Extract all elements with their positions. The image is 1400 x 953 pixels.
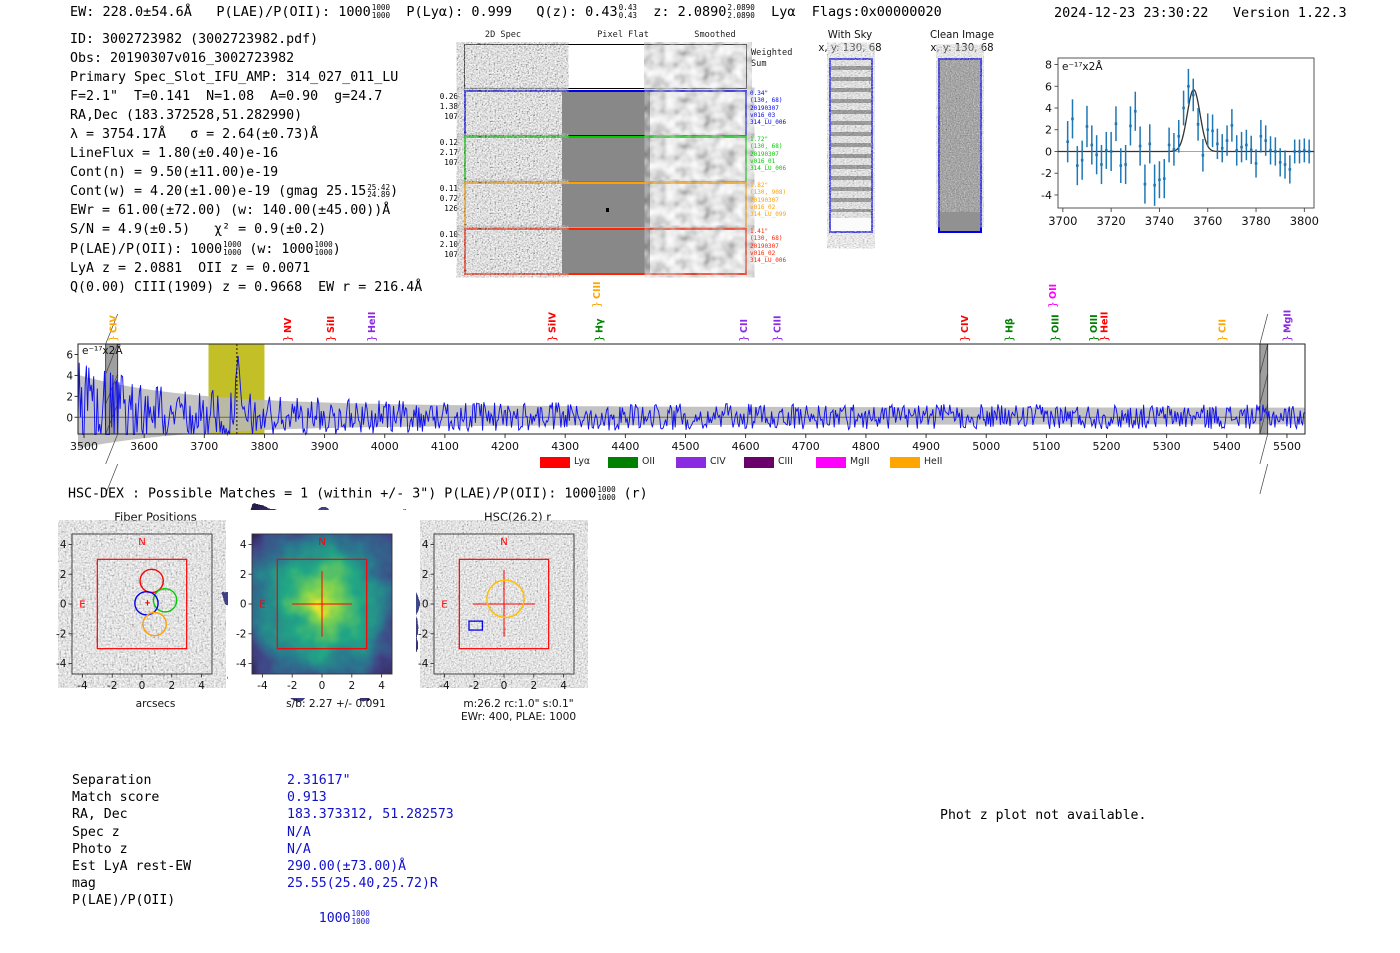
cutout-2-title: HSC(26.2) r <box>430 510 605 524</box>
legend-swatch-0 <box>540 457 570 468</box>
svg-text:4600: 4600 <box>732 440 760 453</box>
svg-text:4500: 4500 <box>671 440 699 453</box>
cutout-2-caption-line1: m:26.2 rc:1.0" s:0.1" <box>463 698 573 710</box>
table-key-0: Separation <box>72 772 151 789</box>
svg-text:N: N <box>500 537 507 548</box>
svg-text:}: } <box>1048 335 1061 342</box>
svg-text:MgII: MgII <box>1283 310 1294 333</box>
legend-swatch-4 <box>816 457 846 468</box>
svg-text:}: } <box>546 335 559 342</box>
svg-text:-2: -2 <box>107 680 117 692</box>
spec2d-row-0-right-labels: 0.34" (130, 68) 20190307 v016_03 314_LU_… <box>750 90 786 126</box>
legend-label-1: OII <box>642 456 655 467</box>
svg-text:}: } <box>958 335 971 342</box>
table-value-4: N/A <box>287 841 311 858</box>
info-params: F=2.1" T=0.141 N=1.08 A=0.90 g=24.7 <box>70 89 382 104</box>
table-value-7-fraction: 10001000 <box>352 910 370 925</box>
svg-text:CIII: CIII <box>592 281 603 299</box>
svg-text:-4: -4 <box>1041 189 1052 202</box>
info-plae-fraction-2: 10001000 <box>314 241 332 256</box>
line-zoom-plot: -4-202468370037203740376037803800e⁻¹⁷x2Å <box>1032 50 1322 250</box>
svg-text:}: } <box>590 301 603 308</box>
photz-note: Phot z plot not available. <box>940 808 1146 823</box>
header-datetime: 2024-12-23 23:30:22 <box>1054 5 1208 21</box>
svg-text:4400: 4400 <box>611 440 639 453</box>
spec2d-row-2-left-labels: 0.11 0.72 126 <box>420 184 458 214</box>
table-value-6: 25.55(25.40,25.72)R <box>287 875 438 892</box>
legend-swatch-3 <box>744 457 774 468</box>
svg-text:3900: 3900 <box>311 440 339 453</box>
table-key-3: Spec z <box>72 824 120 841</box>
svg-text:4700: 4700 <box>792 440 820 453</box>
cutout-0-caption: arcsecs <box>68 698 243 711</box>
svg-text:4: 4 <box>66 370 73 382</box>
header-qz-fraction: 0.430.43 <box>619 4 637 19</box>
info-gmag-fraction: 25.4224.89 <box>367 184 390 199</box>
header-summary-line: EW: 228.0±54.6Å P(LAE)/P(OII): 100010001… <box>70 4 942 20</box>
svg-text:0: 0 <box>422 599 429 611</box>
with-sky-title: With Sky x, y: 130, 68 <box>800 30 900 55</box>
clean-image-pixels <box>940 60 980 231</box>
svg-text:3700: 3700 <box>1048 214 1077 228</box>
legend-label-4: MgII <box>850 456 870 467</box>
legend-swatch-1 <box>608 457 638 468</box>
svg-text:6: 6 <box>66 349 73 361</box>
svg-text:-2: -2 <box>469 680 479 692</box>
svg-text:}: } <box>771 335 784 342</box>
info-plae-pre: P(LAE)/P(OII): 1000 <box>70 242 222 257</box>
line-marker-CII: }CII <box>737 319 750 342</box>
spec2d-row-2-right-labels: 1.82" (130, 908) 20190307 v016_02 314_LU… <box>750 182 786 218</box>
line-marker-OII: }OII <box>1046 284 1059 308</box>
svg-text:}: } <box>1281 335 1294 342</box>
spec2d-row-3 <box>464 228 747 275</box>
svg-text:CII: CII <box>739 319 750 333</box>
spec2d-column-header-2: Smoothed <box>670 30 760 40</box>
info-plae-post: ) <box>333 242 341 257</box>
svg-text:E: E <box>79 600 85 611</box>
info-plae-mid: (w: 1000 <box>241 242 313 257</box>
svg-text:0: 0 <box>501 680 508 692</box>
svg-text:-4: -4 <box>257 680 268 692</box>
info-lineflux: LineFlux = 1.80(±0.40)e-16 <box>70 146 278 161</box>
svg-text:3740: 3740 <box>1145 214 1174 228</box>
line-marker-CIII: }CIII <box>771 315 784 342</box>
svg-text:4: 4 <box>422 539 429 551</box>
table-value-2: 183.373312, 51.282573 <box>287 806 454 823</box>
svg-text:2: 2 <box>66 391 73 403</box>
legend-swatch-2 <box>676 457 706 468</box>
legend-label-0: Lyα <box>574 456 590 467</box>
header-lya: Lyα <box>771 4 795 20</box>
svg-text:Hγ: Hγ <box>594 318 605 333</box>
svg-text:CII: CII <box>1218 319 1229 333</box>
spec2d-column-header-1: Pixel Flat <box>568 30 678 40</box>
svg-text:4900: 4900 <box>912 440 940 453</box>
svg-text:N: N <box>138 537 145 548</box>
svg-text:-4: -4 <box>56 658 67 670</box>
svg-text:0: 0 <box>319 680 326 692</box>
table-key-1: Match score <box>72 789 159 806</box>
line-marker-HeII: }HeII <box>365 312 378 342</box>
svg-text:6: 6 <box>1045 80 1052 93</box>
svg-text:-2: -2 <box>56 628 66 640</box>
header-z-fraction: 2.08902.0890 <box>727 4 754 19</box>
detection-info-block: ID: 3002723982 (3002723982.pdf) Obs: 201… <box>70 30 422 297</box>
svg-text:HeII: HeII <box>1100 312 1111 333</box>
header-ew: EW: 228.0±54.6Å <box>70 4 192 20</box>
svg-text:3760: 3760 <box>1193 214 1222 228</box>
svg-text:-2: -2 <box>418 628 428 640</box>
svg-text:3700: 3700 <box>190 440 218 453</box>
line-marker-HeII: }HeII <box>1098 312 1111 342</box>
legend-swatch-5 <box>890 457 920 468</box>
header-z: z: 2.0890 <box>653 4 726 20</box>
header-plae-fraction: 10001000 <box>372 4 390 19</box>
legend-label-2: CIV <box>710 456 726 467</box>
line-marker-SiIV: }SiIV <box>546 311 559 342</box>
svg-text:2: 2 <box>530 680 537 692</box>
line-marker-Hγ: }Hγ <box>592 318 605 342</box>
line-marker-OIII: }OIII <box>1048 314 1061 342</box>
svg-text:OIII: OIII <box>1089 314 1100 333</box>
svg-text:-2: -2 <box>1041 167 1052 180</box>
with-sky-image <box>829 58 873 233</box>
info-cont-n: Cont(n) = 9.50(±11.00)e-19 <box>70 165 278 180</box>
svg-text:3500: 3500 <box>70 440 98 453</box>
svg-text:}: } <box>365 335 378 342</box>
cutout-2-caption-line2: EWr: 400, PLAE: 1000 <box>461 711 576 723</box>
hsc-dex-plae-fraction: 10001000 <box>597 486 615 501</box>
svg-text:0: 0 <box>66 412 73 424</box>
header-plae-value: 1000 <box>338 4 371 20</box>
svg-text:E: E <box>259 600 265 611</box>
cutout-2-caption: m:26.2 rc:1.0" s:0.1" EWr: 400, PLAE: 10… <box>426 698 611 724</box>
hsc-dex-text-post: (r) <box>616 487 648 502</box>
info-primary-spec: Primary Spec_Slot_IFU_AMP: 314_027_011_L… <box>70 70 398 85</box>
spec2d-row-1-right-labels: 1.72" (130, 68) 20190307 v016_01 314_LU_… <box>750 136 786 172</box>
svg-text:4800: 4800 <box>852 440 880 453</box>
table-value-1: 0.913 <box>287 789 327 806</box>
svg-text:}: } <box>106 335 119 342</box>
info-cont-w-tail: ) <box>390 184 398 199</box>
svg-text:SiIV: SiIV <box>548 311 559 333</box>
info-plae-fraction-1: 10001000 <box>223 241 241 256</box>
with-sky-title-text: With Sky <box>828 30 872 41</box>
svg-text:NV: NV <box>283 317 294 333</box>
spectrum-legend: Lyα OII CIV CIII MgII HeII <box>540 456 960 470</box>
info-z-line: LyA z = 2.0881 OII z = 0.0071 <box>70 261 310 276</box>
spec2d-row-2 <box>464 182 747 229</box>
table-key-6: mag <box>72 875 96 892</box>
svg-text:4: 4 <box>240 539 247 551</box>
line-marker-SiII: }SiII <box>324 316 337 342</box>
svg-text:HeII: HeII <box>367 312 378 333</box>
svg-text:2: 2 <box>60 569 67 581</box>
info-sn-chi2: S/N = 4.9(±0.5) χ² = 0.9(±0.2) <box>70 222 326 237</box>
svg-text:0: 0 <box>1045 145 1052 158</box>
svg-text:}: } <box>1098 335 1111 342</box>
sky-cutout-panels: With Sky x, y: 130, 68 Clean Image x, y:… <box>800 30 1020 275</box>
svg-text:2: 2 <box>422 569 429 581</box>
svg-text:e⁻¹⁷x2Å: e⁻¹⁷x2Å <box>1062 60 1103 73</box>
spec2d-row-3-right-labels: 1.41" (130, 68) 20190307 v016_02 314_LU_… <box>750 228 786 264</box>
spec2d-row-0 <box>464 90 747 137</box>
table-value-0: 2.31617" <box>287 772 351 789</box>
info-radec: RA,Dec (183.372528,51.282990) <box>70 108 302 123</box>
hsc-dex-summary: HSC-DEX : Possible Matches = 1 (within +… <box>68 486 648 502</box>
svg-text:0: 0 <box>139 680 146 692</box>
svg-text:CIV: CIV <box>108 314 119 333</box>
spec2d-row-1-image <box>466 138 745 181</box>
svg-text:4: 4 <box>198 680 205 692</box>
svg-text:4000: 4000 <box>371 440 399 453</box>
table-key-7: P(LAE)/P(OII) <box>72 892 175 909</box>
svg-text:}: } <box>1046 301 1059 308</box>
svg-text:0: 0 <box>60 599 67 611</box>
svg-text:E: E <box>441 600 447 611</box>
line-marker-MgII: }MgII <box>1281 310 1294 342</box>
line-marker-CIV: }CIV <box>106 314 119 342</box>
svg-text:5200: 5200 <box>1093 440 1121 453</box>
header-flags: Flags:0x00000020 <box>812 4 942 20</box>
header-qz: Q(z): 0.43 <box>536 4 617 20</box>
clean-image-title: Clean Image x, y: 130, 68 <box>908 30 1016 55</box>
line-marker-Hβ: }Hβ <box>1003 318 1016 342</box>
svg-text:Hβ: Hβ <box>1005 318 1016 333</box>
svg-text:SiII: SiII <box>326 316 337 333</box>
with-sky-subtitle: x, y: 130, 68 <box>818 43 881 54</box>
svg-text:CIV: CIV <box>960 314 971 333</box>
svg-text:-4: -4 <box>236 658 247 670</box>
svg-text:}: } <box>324 335 337 342</box>
svg-text:2: 2 <box>1045 124 1052 137</box>
svg-text:2: 2 <box>348 680 355 692</box>
table-key-4: Photo z <box>72 841 128 858</box>
header-plae-label: P(LAE)/P(OII): <box>216 4 330 20</box>
svg-text:}: } <box>1216 335 1229 342</box>
svg-text:3720: 3720 <box>1096 214 1125 228</box>
svg-text:4200: 4200 <box>491 440 519 453</box>
spec2d-row-1 <box>464 136 747 183</box>
full-spectrum-plot: 0246350036003700380039004000410042004300… <box>60 282 1315 470</box>
cutout-1-caption: s/b: 2.27 +/- 0.091 <box>246 698 426 711</box>
svg-text:N: N <box>318 537 325 548</box>
info-ewr: EWr = 61.00(±72.00) (w: 140.00(±45.00))Å <box>70 203 390 218</box>
svg-text:-4: -4 <box>439 680 450 692</box>
with-sky-pixels <box>831 60 871 231</box>
svg-text:3800: 3800 <box>1290 214 1319 228</box>
line-marker-CIII: }CIII <box>590 281 603 308</box>
line-marker-CII: }CII <box>1216 319 1229 342</box>
clean-image-subtitle: x, y: 130, 68 <box>930 43 993 54</box>
clean-image-title-text: Clean Image <box>930 30 994 41</box>
svg-text:4100: 4100 <box>431 440 459 453</box>
spec2d-row-3-left-labels: 0.10 2.10 107 <box>420 230 458 260</box>
svg-text:}: } <box>592 335 605 342</box>
svg-text:}: } <box>281 335 294 342</box>
weighted-sum-image <box>465 45 745 87</box>
info-id: ID: 3002723982 (3002723982.pdf) <box>70 32 318 47</box>
svg-text:5100: 5100 <box>1032 440 1060 453</box>
svg-text:5000: 5000 <box>972 440 1000 453</box>
svg-text:5400: 5400 <box>1213 440 1241 453</box>
cutout-0-title: Fiber Positions <box>68 510 243 524</box>
svg-text:OII: OII <box>1048 284 1059 299</box>
spec2d-montage: 2D Spec Pixel Flat Smoothed Weighted Sum… <box>420 30 780 275</box>
svg-text:5300: 5300 <box>1153 440 1181 453</box>
info-cont-w: Cont(w) = 4.20(±1.00)e-19 (gmag 25.15 <box>70 184 366 199</box>
table-key-2: RA, Dec <box>72 806 128 823</box>
table-key-5: Est LyA rest-EW <box>72 858 191 875</box>
table-value-5: 290.00(±73.00)Å <box>287 858 406 875</box>
spec2d-row-2-image <box>466 184 745 227</box>
legend-label-3: CIII <box>778 456 793 467</box>
svg-text:2: 2 <box>240 569 247 581</box>
svg-text:4300: 4300 <box>551 440 579 453</box>
svg-text:4: 4 <box>560 680 567 692</box>
spec2d-weighted-sum-label: Weighted Sum <box>751 48 792 69</box>
svg-text:CIII: CIII <box>773 315 784 333</box>
spec2d-row-1-left-labels: 0.12 2.17 107 <box>420 138 458 168</box>
info-lambda-sigma: λ = 3754.17Å σ = 2.64(±0.73)Å <box>70 127 318 142</box>
line-marker-NV: }NV <box>281 317 294 342</box>
table-value-3: N/A <box>287 824 311 841</box>
header-plya: P(Lyα): 0.999 <box>406 4 512 20</box>
svg-text:3780: 3780 <box>1241 214 1270 228</box>
table-value-7: 100010001000 <box>287 892 370 944</box>
svg-text:0: 0 <box>240 599 247 611</box>
svg-text:}: } <box>1003 335 1016 342</box>
spec2d-row-0-left-labels: 0.26 1.38 107 <box>420 92 458 122</box>
legend-label-5: HeII <box>924 456 942 467</box>
svg-text:3800: 3800 <box>250 440 278 453</box>
svg-text:4: 4 <box>378 680 385 692</box>
svg-text:-2: -2 <box>287 680 297 692</box>
svg-text:4: 4 <box>1045 102 1052 115</box>
svg-text:3600: 3600 <box>130 440 158 453</box>
svg-text:8: 8 <box>1045 59 1052 72</box>
header-timestamp-version: 2024-12-23 23:30:22 Version 1.22.3 <box>1054 5 1347 21</box>
spec2d-column-header-0: 2D Spec <box>448 30 558 40</box>
svg-text:5500: 5500 <box>1273 440 1301 453</box>
svg-text:-4: -4 <box>77 680 88 692</box>
svg-text:}: } <box>737 335 750 342</box>
svg-text:OIII: OIII <box>1050 314 1061 333</box>
spec2d-row-0-image <box>466 92 745 135</box>
svg-text:-2: -2 <box>236 628 246 640</box>
line-marker-CIV: }CIV <box>958 314 971 342</box>
hsc-dex-text: HSC-DEX : Possible Matches = 1 (within +… <box>68 487 596 502</box>
svg-text:2: 2 <box>168 680 175 692</box>
clean-image-cutout <box>938 58 982 233</box>
header-version: Version 1.22.3 <box>1233 5 1347 21</box>
svg-text:e⁻¹⁷x2Å: e⁻¹⁷x2Å <box>82 344 123 357</box>
table-value-7-text: 1000 <box>319 911 351 926</box>
svg-text:4: 4 <box>60 539 67 551</box>
info-obs: Obs: 20190307v016_3002723982 <box>70 51 294 66</box>
spec2d-row-3-image <box>466 230 745 273</box>
svg-text:-4: -4 <box>418 658 429 670</box>
spec2d-weighted-sum-row <box>464 44 747 89</box>
